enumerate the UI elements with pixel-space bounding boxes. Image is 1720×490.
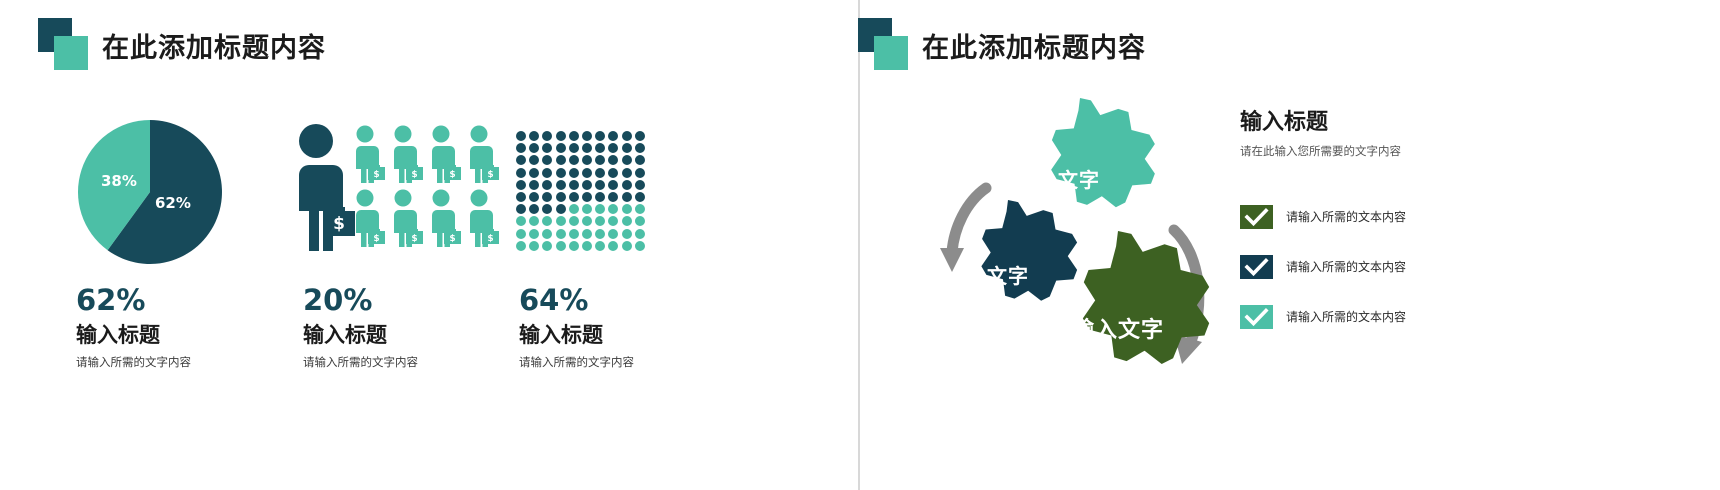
dot-matrix-cell bbox=[635, 143, 645, 153]
dot-matrix-cell bbox=[635, 192, 645, 202]
dot-matrix-cell bbox=[569, 180, 579, 190]
dot-matrix-cell bbox=[608, 229, 618, 239]
pie-chart: 38% 62% bbox=[40, 112, 273, 272]
stat-title-1: 输入标题 bbox=[76, 325, 191, 346]
list-item-label: 请输入所需的文本内容 bbox=[1286, 311, 1406, 323]
dot-matrix-cell bbox=[542, 168, 552, 178]
dot-matrix-cell bbox=[608, 241, 618, 251]
slide-right-title: 在此添加标题内容 bbox=[922, 26, 1146, 65]
dot-matrix-cell bbox=[622, 241, 632, 251]
two-squares-logo-icon bbox=[36, 18, 90, 72]
list-item[interactable]: 请输入所需的文本内容 bbox=[1240, 205, 1468, 229]
dot-matrix-cell bbox=[608, 204, 618, 214]
dot-matrix-cell bbox=[582, 229, 592, 239]
slide-right-header: 在此添加标题内容 bbox=[856, 18, 1146, 72]
dot-matrix-cell bbox=[595, 168, 605, 178]
person-icon-small: $ bbox=[427, 125, 465, 189]
svg-text:$: $ bbox=[411, 234, 417, 244]
dot-matrix-graphic bbox=[516, 131, 648, 253]
dot-matrix-cell bbox=[529, 204, 539, 214]
dot-matrix-cell bbox=[582, 204, 592, 214]
panel-subtitle: 请在此输入您所需要的文字内容 bbox=[1240, 146, 1468, 158]
stat-value-2: 20% bbox=[303, 286, 418, 315]
stat-title-2: 输入标题 bbox=[303, 325, 418, 346]
stat-title-3: 输入标题 bbox=[519, 325, 634, 346]
dot-matrix-cell bbox=[595, 216, 605, 226]
dot-matrix-cell bbox=[542, 192, 552, 202]
svg-text:$: $ bbox=[373, 170, 379, 180]
svg-text:$: $ bbox=[449, 170, 455, 180]
person-icon-small: $ bbox=[427, 189, 465, 253]
person-icon-large: $ bbox=[289, 123, 355, 260]
dot-matrix-cell bbox=[516, 192, 526, 202]
dot-matrix-cell bbox=[556, 204, 566, 214]
dot-matrix-cell bbox=[556, 229, 566, 239]
dot-matrix-cell bbox=[582, 216, 592, 226]
dot-matrix-cell bbox=[608, 192, 618, 202]
svg-text:$: $ bbox=[487, 170, 493, 180]
slide-left-title: 在此添加标题内容 bbox=[102, 26, 326, 65]
dot-matrix-cell bbox=[595, 180, 605, 190]
dot-matrix-cell bbox=[556, 216, 566, 226]
checklist: 请输入所需的文本内容 请输入所需的文本内容 bbox=[1240, 205, 1468, 329]
dot-matrix-cell bbox=[569, 131, 579, 141]
dot-matrix-cell bbox=[622, 143, 632, 153]
dot-matrix-cell bbox=[529, 131, 539, 141]
list-item[interactable]: 请输入所需的文本内容 bbox=[1240, 255, 1468, 279]
dot-matrix-cell bbox=[516, 180, 526, 190]
dot-matrix-cell bbox=[569, 204, 579, 214]
pie-label-dark: 62% bbox=[155, 194, 191, 212]
check-icon bbox=[1240, 305, 1273, 329]
dot-matrix-cell bbox=[556, 241, 566, 251]
dot-matrix-cell bbox=[556, 168, 566, 178]
list-item-label: 请输入所需的文本内容 bbox=[1286, 211, 1406, 223]
dot-matrix-cell bbox=[622, 216, 632, 226]
dot-matrix-cell bbox=[595, 192, 605, 202]
dot-matrix-cell bbox=[529, 216, 539, 226]
dot-matrix-cell bbox=[529, 229, 539, 239]
dot-matrix-cell bbox=[608, 155, 618, 165]
people-pictogram-graphic: $ $ $ $ bbox=[289, 117, 499, 267]
gear-olive-label: 输入文字 bbox=[1048, 312, 1188, 344]
dot-matrix-cell bbox=[569, 168, 579, 178]
dot-matrix-cell bbox=[516, 131, 526, 141]
stat-value-3: 64% bbox=[519, 286, 634, 315]
dot-matrix-cell bbox=[582, 192, 592, 202]
dot-matrix-cell bbox=[622, 168, 632, 178]
slide-left: 在此添加标题内容 38% 62% bbox=[0, 0, 860, 490]
dot-matrix-cell bbox=[542, 131, 552, 141]
dot-matrix-cell bbox=[622, 229, 632, 239]
dot-matrix-cell bbox=[582, 168, 592, 178]
dot-matrix-cell bbox=[622, 155, 632, 165]
dot-matrix-cell bbox=[635, 168, 645, 178]
dot-matrix-cell bbox=[635, 155, 645, 165]
dot-matrix-cell bbox=[635, 216, 645, 226]
dot-matrix bbox=[506, 112, 739, 272]
dot-matrix-cell bbox=[582, 180, 592, 190]
dot-matrix-cell bbox=[529, 155, 539, 165]
person-icon-small: $ bbox=[465, 189, 503, 253]
stats-row: 38% 62% 62% 输入标题 请输入所需的文字内容 bbox=[40, 112, 740, 369]
dot-matrix-cell bbox=[556, 131, 566, 141]
person-icon-small: $ bbox=[465, 125, 503, 189]
people-icon-grid: $ $ $ $ $ bbox=[351, 125, 503, 253]
dot-matrix-cell bbox=[622, 192, 632, 202]
stat-text-block-2: 20% 输入标题 请输入所需的文字内容 bbox=[273, 272, 418, 369]
list-item-label: 请输入所需的文本内容 bbox=[1286, 261, 1406, 273]
dot-matrix-cell bbox=[529, 143, 539, 153]
dot-matrix-cell bbox=[542, 229, 552, 239]
check-icon bbox=[1240, 205, 1273, 229]
dot-matrix-cell bbox=[569, 143, 579, 153]
dot-matrix-cell bbox=[556, 180, 566, 190]
dot-matrix-cell bbox=[542, 143, 552, 153]
dot-matrix-cell bbox=[529, 180, 539, 190]
dot-matrix-cell bbox=[542, 216, 552, 226]
dot-matrix-cell bbox=[542, 155, 552, 165]
stat-desc-3: 请输入所需的文字内容 bbox=[519, 357, 634, 369]
dot-matrix-cell bbox=[542, 241, 552, 251]
list-item[interactable]: 请输入所需的文本内容 bbox=[1240, 305, 1468, 329]
dot-matrix-cell bbox=[516, 204, 526, 214]
people-pictogram: $ $ $ $ bbox=[273, 112, 506, 272]
person-icon-small: $ bbox=[389, 189, 427, 253]
person-icon-small: $ bbox=[351, 125, 389, 189]
dot-matrix-cell bbox=[595, 241, 605, 251]
slide-left-header: 在此添加标题内容 bbox=[36, 18, 326, 72]
dot-matrix-cell bbox=[635, 229, 645, 239]
stat-text-block-1: 62% 输入标题 请输入所需的文字内容 bbox=[40, 272, 191, 369]
stat-col-dots: 64% 输入标题 请输入所需的文字内容 bbox=[506, 112, 739, 369]
dot-matrix-cell bbox=[635, 241, 645, 251]
dot-matrix-cell bbox=[595, 155, 605, 165]
panel-title: 输入标题 bbox=[1240, 112, 1468, 134]
dot-matrix-cell bbox=[595, 229, 605, 239]
slide-right: 在此添加标题内容 bbox=[860, 0, 1720, 490]
svg-text:$: $ bbox=[411, 170, 417, 180]
svg-text:$: $ bbox=[373, 234, 379, 244]
svg-text:$: $ bbox=[333, 214, 345, 234]
logo-square-teal bbox=[874, 36, 908, 70]
dot-matrix-cell bbox=[516, 143, 526, 153]
dot-matrix-cell bbox=[569, 155, 579, 165]
slide-deck: 在此添加标题内容 38% 62% bbox=[0, 0, 1720, 490]
dot-matrix-cell bbox=[608, 143, 618, 153]
dot-matrix-cell bbox=[516, 155, 526, 165]
dot-matrix-cell bbox=[595, 131, 605, 141]
svg-text:$: $ bbox=[449, 234, 455, 244]
dot-matrix-cell bbox=[516, 216, 526, 226]
dot-matrix-cell bbox=[542, 180, 552, 190]
stat-col-pie: 38% 62% 62% 输入标题 请输入所需的文字内容 bbox=[40, 112, 273, 369]
dot-matrix-cell bbox=[582, 131, 592, 141]
dot-matrix-cell bbox=[635, 131, 645, 141]
right-text-panel: 输入标题 请在此输入您所需要的文字内容 请输入所需的文本内容 bbox=[1240, 112, 1468, 355]
pie-chart-graphic: 38% 62% bbox=[74, 116, 226, 268]
check-icon bbox=[1240, 255, 1273, 279]
dot-matrix-cell bbox=[542, 204, 552, 214]
dot-matrix-cell bbox=[529, 168, 539, 178]
dot-matrix-cell bbox=[516, 229, 526, 239]
dot-matrix-cell bbox=[595, 204, 605, 214]
dot-matrix-cell bbox=[556, 143, 566, 153]
dot-matrix-cell bbox=[608, 216, 618, 226]
dot-matrix-cell bbox=[635, 180, 645, 190]
logo-square-teal bbox=[54, 36, 88, 70]
stat-desc-2: 请输入所需的文字内容 bbox=[303, 357, 418, 369]
gear-teal-label: 文字 bbox=[1034, 164, 1124, 193]
dot-matrix-cell bbox=[622, 131, 632, 141]
dot-matrix-cell bbox=[582, 143, 592, 153]
person-icon-small: $ bbox=[389, 125, 427, 189]
dot-matrix-cell bbox=[595, 143, 605, 153]
two-squares-logo-icon bbox=[856, 18, 910, 72]
dot-matrix-cell bbox=[529, 241, 539, 251]
svg-text:$: $ bbox=[487, 234, 493, 244]
dot-matrix-cell bbox=[622, 204, 632, 214]
dot-matrix-cell bbox=[516, 168, 526, 178]
dot-matrix-cell bbox=[608, 168, 618, 178]
dot-matrix-cell bbox=[608, 131, 618, 141]
stat-text-block-3: 64% 输入标题 请输入所需的文字内容 bbox=[506, 272, 634, 369]
dot-matrix-cell bbox=[582, 155, 592, 165]
pie-label-light: 38% bbox=[101, 172, 137, 190]
dot-matrix-cell bbox=[529, 192, 539, 202]
dot-matrix-cell bbox=[569, 192, 579, 202]
stat-col-people: $ $ $ $ bbox=[273, 112, 506, 369]
person-icon-small: $ bbox=[351, 189, 389, 253]
dot-matrix-cell bbox=[608, 180, 618, 190]
dot-matrix-cell bbox=[556, 192, 566, 202]
dot-matrix-cell bbox=[516, 241, 526, 251]
dot-matrix-cell bbox=[582, 241, 592, 251]
gear-diagram: 文字 文字 输入文字 bbox=[818, 76, 1258, 416]
stat-value-1: 62% bbox=[76, 286, 191, 315]
dot-matrix-cell bbox=[556, 155, 566, 165]
dot-matrix-cell bbox=[635, 204, 645, 214]
dot-matrix-cell bbox=[622, 180, 632, 190]
stat-desc-1: 请输入所需的文字内容 bbox=[76, 357, 191, 369]
dot-matrix-cell bbox=[569, 241, 579, 251]
gear-navy-label: 文字 bbox=[963, 260, 1053, 289]
dot-matrix-cell bbox=[569, 216, 579, 226]
dot-matrix-cell bbox=[569, 229, 579, 239]
